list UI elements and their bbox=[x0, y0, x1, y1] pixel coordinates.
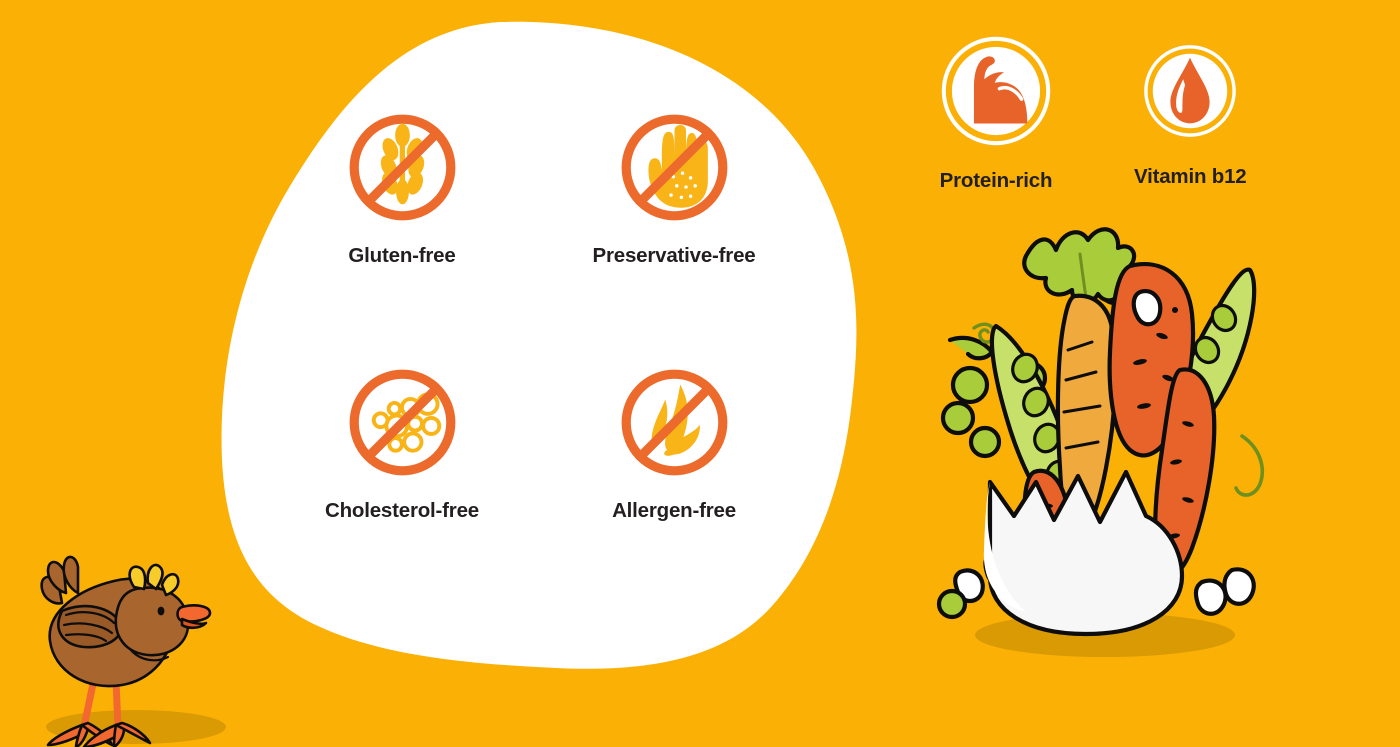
no-gluten-wheat-icon bbox=[345, 110, 460, 225]
claim-item-preservative-free[interactable]: Preservative-free bbox=[540, 110, 808, 365]
infographic-canvas: Gluten-free Preservative-free bbox=[0, 0, 1400, 747]
claim-item-cholesterol-free[interactable]: Cholesterol-free bbox=[268, 365, 536, 620]
claim-label: Preservative-free bbox=[589, 242, 759, 270]
chick-illustration bbox=[18, 545, 248, 747]
nutrition-label: Protein-rich bbox=[940, 169, 1053, 193]
vegetables-in-cracked-egg-illustration bbox=[930, 210, 1280, 670]
nutrition-badges: Protein-rich Vitamin b12 bbox=[938, 33, 1318, 193]
flexed-bicep-icon bbox=[938, 33, 1054, 149]
droplet-icon bbox=[1141, 42, 1239, 140]
claims-grid: Gluten-free Preservative-free bbox=[268, 110, 808, 620]
no-preservative-hand-icon bbox=[617, 110, 732, 225]
claim-item-gluten-free[interactable]: Gluten-free bbox=[268, 110, 536, 365]
nutrition-label: Vitamin b12 bbox=[1134, 165, 1247, 189]
no-allergen-flame-icon bbox=[617, 365, 732, 480]
claim-item-allergen-free[interactable]: Allergen-free bbox=[540, 365, 808, 620]
nutrition-item-protein-rich[interactable]: Protein-rich bbox=[938, 33, 1054, 193]
nutrition-item-vitamin-b12[interactable]: Vitamin b12 bbox=[1134, 33, 1247, 193]
claim-label: Gluten-free bbox=[317, 242, 487, 270]
claim-label: Allergen-free bbox=[589, 497, 759, 525]
no-cholesterol-globules-icon bbox=[345, 365, 460, 480]
claim-label: Cholesterol-free bbox=[317, 497, 487, 525]
